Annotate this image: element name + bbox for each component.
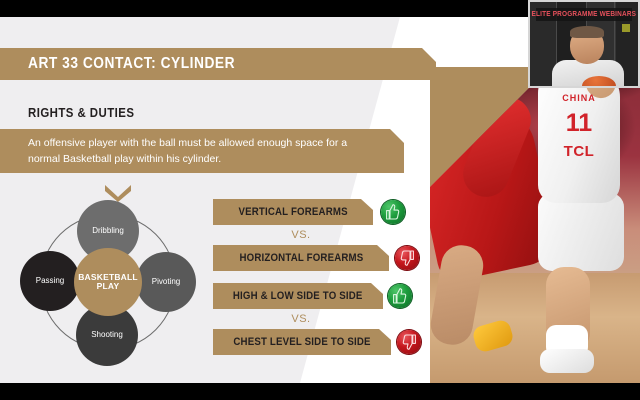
photo-player-shoe	[540, 349, 594, 373]
comparison-tag-horizontal-forearms: HORIZONTAL FOREARMS	[213, 245, 389, 271]
thumbs-up-icon	[388, 284, 412, 308]
webcam-banner-text: ELITE PROGRAMME WEBINARS	[532, 11, 637, 18]
thumbs-up-icon	[381, 200, 405, 224]
webcam-banner: ELITE PROGRAMME WEBINARS	[536, 8, 632, 21]
thumbs-down-icon	[397, 330, 421, 354]
comparison-list: VERTICAL FOREARMS VS. HORIZONTAL FOREARM…	[213, 199, 428, 355]
comparison-row-correct: VERTICAL FOREARMS	[213, 199, 428, 225]
slide-description-text: An offensive player with the ball must b…	[28, 135, 404, 168]
thumbs-down-icon	[395, 246, 419, 270]
comparison-row-correct: HIGH & LOW SIDE TO SIDE	[213, 283, 428, 309]
presentation-viewer: ART 33 CONTACT: CYLINDER RIGHTS & DUTIES…	[0, 0, 640, 400]
slide-subtitle: RIGHTS & DUTIES	[28, 105, 134, 120]
jersey-number-text: 11	[538, 109, 620, 138]
vs-label: VS.	[291, 229, 310, 241]
arrow-left-icon[interactable]	[4, 382, 16, 383]
comparison-label: VERTICAL FOREARMS	[238, 206, 347, 218]
webcam-video-panel[interactable]: ELITE PROGRAMME WEBINARS	[528, 0, 640, 88]
jersey-team-text: CHINA	[538, 93, 620, 103]
annotation-toolbar[interactable]	[4, 380, 74, 383]
slide-title-bar: ART 33 CONTACT: CYLINDER	[0, 48, 436, 80]
comparison-row-incorrect: HORIZONTAL FOREARMS	[213, 245, 428, 271]
diagram-center-label: BASKETBALL PLAY	[74, 273, 142, 292]
diagram-node-label: Passing	[36, 277, 64, 286]
vs-label: VS.	[291, 313, 310, 325]
minus-circle-icon[interactable]	[34, 382, 46, 383]
ellipsis-circle-icon[interactable]	[49, 382, 61, 383]
diagram-node-label: Shooting	[91, 331, 123, 340]
webcam-logo-badge	[622, 24, 630, 32]
comparison-vs-separator: VS.	[213, 309, 389, 329]
page-title: ART 33 CONTACT: CYLINDER	[28, 55, 235, 73]
photo-player-shorts	[538, 193, 624, 271]
slide-description-bar: An offensive player with the ball must b…	[0, 129, 404, 173]
comparison-label: CHEST LEVEL SIDE TO SIDE	[233, 336, 370, 348]
diagram-node-label: Pivoting	[152, 278, 180, 287]
comparison-tag-chest-level-side-to-side: CHEST LEVEL SIDE TO SIDE	[213, 329, 391, 355]
pencil-icon[interactable]	[19, 382, 31, 383]
comparison-row-incorrect: CHEST LEVEL SIDE TO SIDE	[213, 329, 428, 355]
arrow-right-icon[interactable]	[64, 382, 76, 383]
webcam-speaker-hair	[570, 26, 604, 38]
comparison-vs-separator: VS.	[213, 225, 389, 245]
diagram-node-passing: Passing	[20, 251, 80, 311]
jersey-sponsor-text: TCL	[538, 143, 620, 160]
diagram-node-label: Dribbling	[92, 227, 124, 236]
comparison-tag-high-low-side-to-side: HIGH & LOW SIDE TO SIDE	[213, 283, 383, 309]
diagram-node-center: BASKETBALL PLAY	[74, 248, 142, 316]
comparison-label: HIGH & LOW SIDE TO SIDE	[233, 290, 363, 302]
comparison-tag-vertical-forearms: VERTICAL FOREARMS	[213, 199, 373, 225]
basketball-play-diagram: Dribbling Pivoting Shooting Passing BASK…	[18, 200, 198, 372]
comparison-label: HORIZONTAL FOREARMS	[239, 252, 363, 264]
diagram-node-pivoting: Pivoting	[136, 252, 196, 312]
